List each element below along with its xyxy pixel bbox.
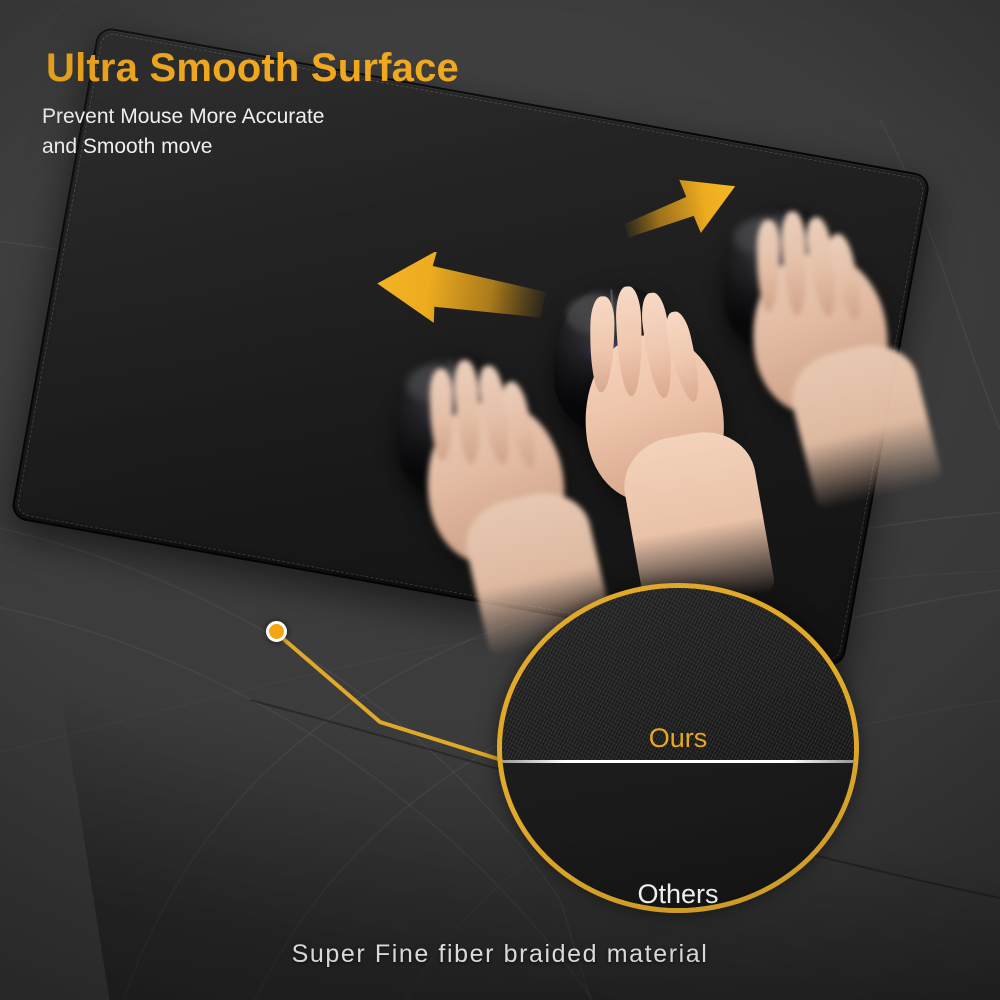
vignette-overlay bbox=[0, 0, 1000, 1000]
product-feature-image: Ultra Smooth Surface Prevent Mouse More … bbox=[0, 0, 1000, 1000]
